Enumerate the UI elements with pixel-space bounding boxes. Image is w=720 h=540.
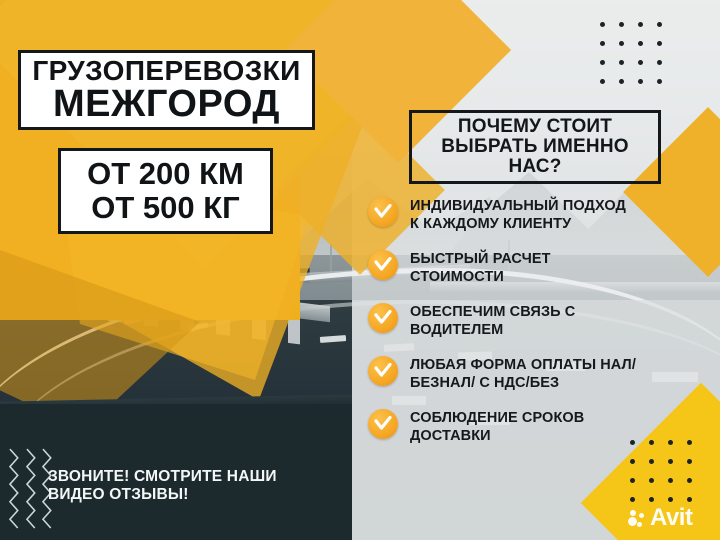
why-heading-line-1: ПОЧЕМУ СТОИТ — [458, 117, 612, 137]
check-circle-icon — [368, 409, 398, 439]
benefit-line-1: ИНДИВИДУАЛЬНЫЙ ПОДХОД — [410, 198, 626, 216]
headline-line-2: МЕЖГОРОД — [53, 85, 280, 124]
headline-box: ГРУЗОПЕРЕВОЗКИ МЕЖГОРОД — [18, 50, 315, 130]
avito-wordmark: Avito — [650, 506, 707, 530]
benefit-line-2: К КАЖДОМУ КЛИЕНТУ — [410, 216, 626, 234]
why-choose-us-heading: ПОЧЕМУ СТОИТ ВЫБРАТЬ ИМЕННО НАС? — [409, 110, 661, 184]
benefit-text: ОБЕСПЕЧИМ СВЯЗЬ С ВОДИТЕЛЕМ — [410, 302, 575, 340]
avito-word-accent: o — [692, 504, 706, 531]
cta-line-2: ВИДЕО ОТЗЫВЫ! — [48, 486, 338, 504]
benefit-line-1: ОБЕСПЕЧИМ СВЯЗЬ С — [410, 304, 575, 322]
call-to-action-text: ЗВОНИТЕ! СМОТРИТЕ НАШИ ВИДЕО ОТЗЫВЫ! — [48, 468, 338, 505]
spec-distance: ОТ 200 КМ — [87, 158, 244, 190]
benefit-line-2: БЕЗНАЛ/ С НДС/БЕЗ — [410, 375, 636, 393]
light-pole — [330, 244, 332, 272]
specs-box: ОТ 200 КМ ОТ 500 КГ — [58, 148, 273, 234]
dot-grid-top-right — [600, 22, 662, 84]
benefit-item: ОБЕСПЕЧИМ СВЯЗЬ С ВОДИТЕЛЕМ — [368, 302, 708, 340]
benefit-item: СОБЛЮДЕНИЕ СРОКОВ ДОСТАВКИ — [368, 408, 708, 446]
benefit-line-1: ЛЮБАЯ ФОРМА ОПЛАТЫ НАЛ/ — [410, 357, 636, 375]
benefit-text: ЛЮБАЯ ФОРМА ОПЛАТЫ НАЛ/ БЕЗНАЛ/ С НДС/БЕ… — [410, 355, 636, 393]
benefit-text: СОБЛЮДЕНИЕ СРОКОВ ДОСТАВКИ — [410, 408, 584, 446]
avito-watermark: Avito — [628, 506, 707, 530]
check-circle-icon — [368, 303, 398, 333]
zigzag-line-icon — [8, 448, 21, 534]
benefit-item: ЛЮБАЯ ФОРМА ОПЛАТЫ НАЛ/ БЕЗНАЛ/ С НДС/БЕ… — [368, 355, 708, 393]
benefit-text: ИНДИВИДУАЛЬНЫЙ ПОДХОД К КАЖДОМУ КЛИЕНТУ — [410, 196, 626, 234]
benefit-item: БЫСТРЫЙ РАСЧЕТ СТОИМОСТИ — [368, 249, 708, 287]
benefit-text: БЫСТРЫЙ РАСЧЕТ СТОИМОСТИ — [410, 249, 551, 287]
benefit-line-1: БЫСТРЫЙ РАСЧЕТ — [410, 251, 551, 269]
why-heading-line-2: ВЫБРАТЬ ИМЕННО — [441, 137, 628, 157]
zigzag-line-icon — [25, 448, 38, 534]
headline-line-1: ГРУЗОПЕРЕВОЗКИ — [32, 57, 300, 85]
benefit-item: ИНДИВИДУАЛЬНЫЙ ПОДХОД К КАЖДОМУ КЛИЕНТУ — [368, 196, 708, 234]
avito-word-base: Avit — [650, 504, 692, 531]
benefits-list: ИНДИВИДУАЛЬНЫЙ ПОДХОД К КАЖДОМУ КЛИЕНТУ … — [368, 196, 708, 461]
check-circle-icon — [368, 250, 398, 280]
spec-weight: ОТ 500 КГ — [91, 192, 240, 224]
avito-logo-icon — [628, 509, 647, 528]
benefit-line-1: СОБЛЮДЕНИЕ СРОКОВ — [410, 410, 584, 428]
cta-line-1: ЗВОНИТЕ! СМОТРИТЕ НАШИ — [48, 468, 338, 486]
benefit-line-2: СТОИМОСТИ — [410, 269, 551, 287]
check-circle-icon — [368, 197, 398, 227]
benefit-line-2: ВОДИТЕЛЕМ — [410, 322, 575, 340]
advertisement-poster: ГРУЗОПЕРЕВОЗКИ МЕЖГОРОД ОТ 200 КМ ОТ 500… — [0, 0, 720, 540]
check-circle-icon — [368, 356, 398, 386]
benefit-line-2: ДОСТАВКИ — [410, 428, 584, 446]
why-heading-line-3: НАС? — [508, 157, 561, 177]
